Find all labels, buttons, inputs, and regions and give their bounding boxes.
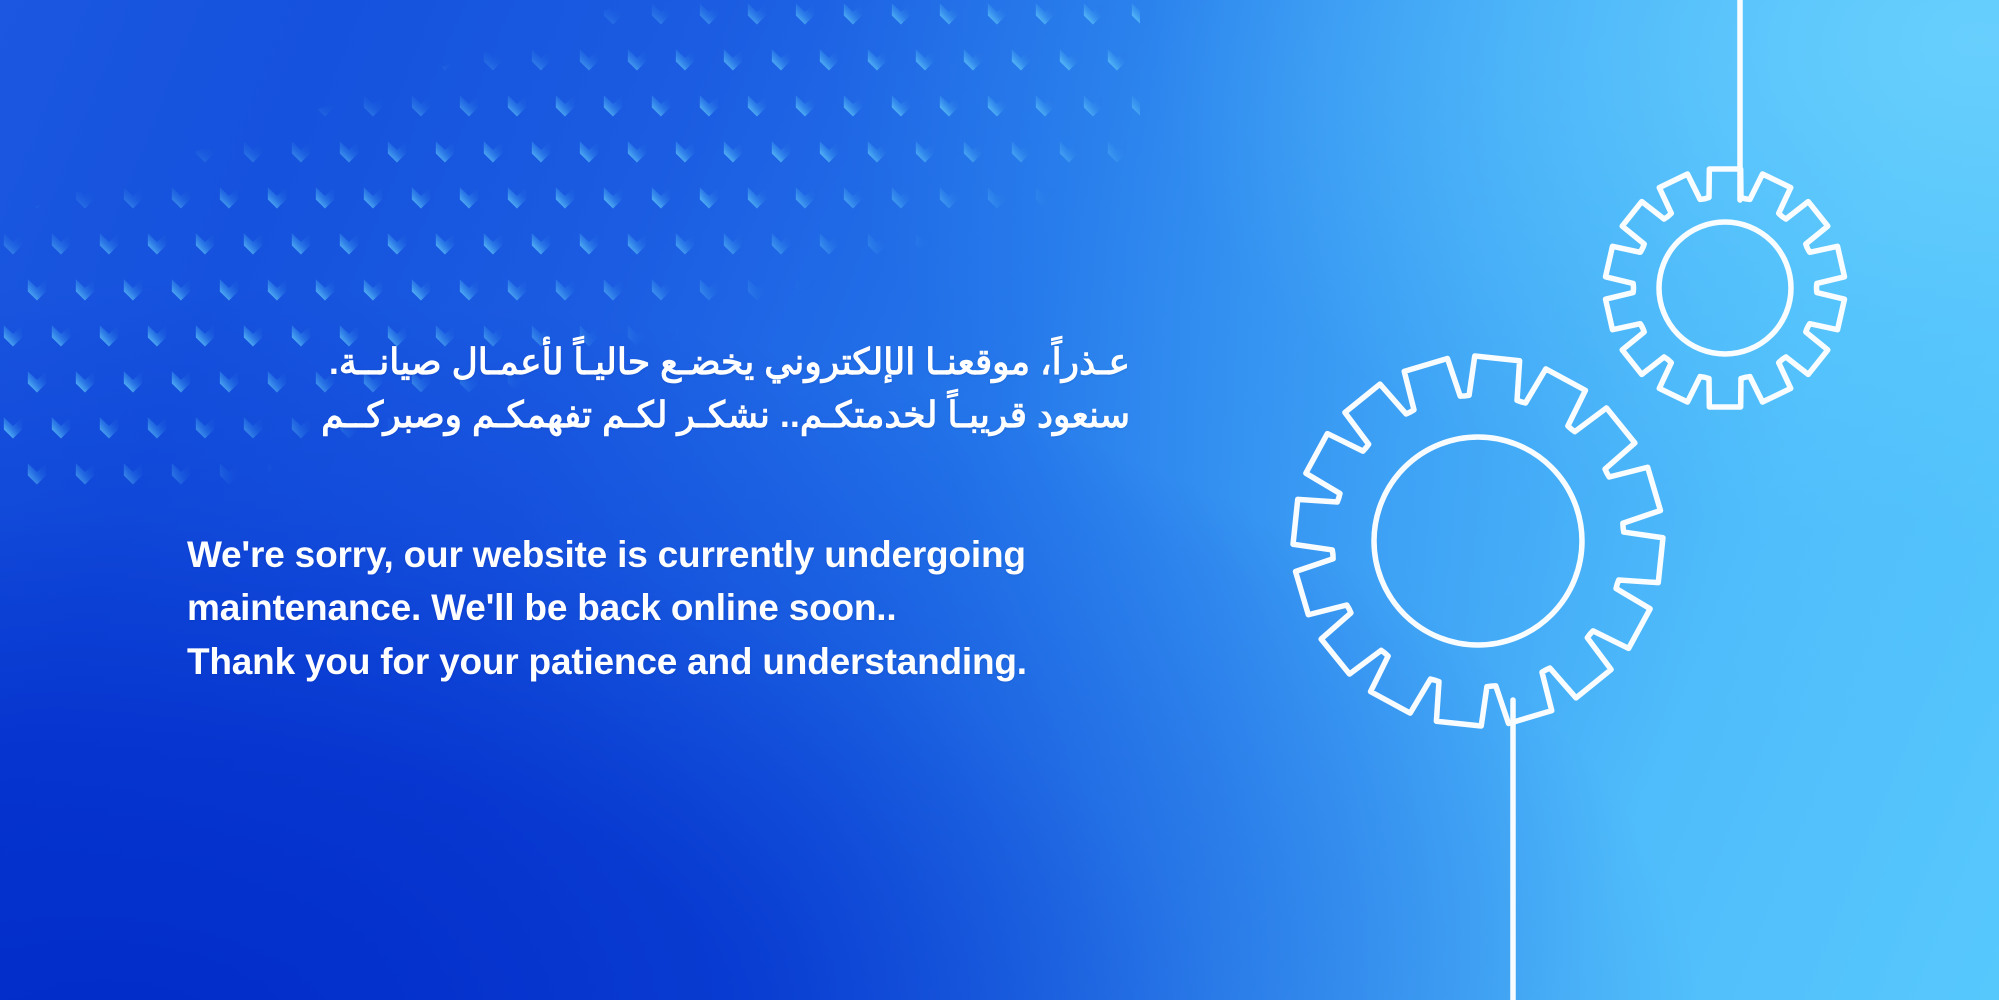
maintenance-page: عـذراً، موقعنـا الإلكتروني يخضـع حاليـاً… <box>0 0 1999 1000</box>
message-area: عـذراً، موقعنـا الإلكتروني يخضـع حاليـاً… <box>0 0 1180 1000</box>
english-line-3: Thank you for your patience and understa… <box>187 635 1137 688</box>
english-line-2: maintenance. We'll be back online soon.. <box>187 581 1137 634</box>
english-message: We're sorry, our website is currently un… <box>187 528 1137 688</box>
arabic-line-1: عـذراً، موقعنـا الإلكتروني يخضـع حاليـاً… <box>150 336 1130 389</box>
english-line-1: We're sorry, our website is currently un… <box>187 528 1137 581</box>
arabic-message: عـذراً، موقعنـا الإلكتروني يخضـع حاليـاً… <box>150 336 1130 441</box>
arabic-line-2: سنعود قريبـاً لخدمتكـم.. نشكـر لكـم تفهم… <box>150 389 1130 442</box>
